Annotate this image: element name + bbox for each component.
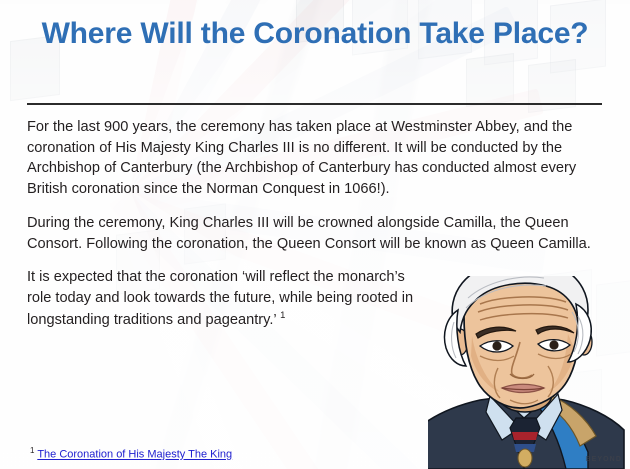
paragraph-3-text: It is expected that the coronation ‘will… bbox=[27, 269, 413, 327]
footnote: 1 The Coronation of His Majesty The King bbox=[30, 446, 232, 461]
paragraph-2: During the ceremony, King Charles III wi… bbox=[27, 213, 597, 254]
footnote-marker: 1 bbox=[30, 446, 34, 455]
beyond-logo: BEYOND bbox=[585, 456, 622, 463]
slide-content: Where Will the Coronation Take Place? Fo… bbox=[0, 0, 630, 469]
king-charles-iii-portrait bbox=[428, 276, 628, 469]
slide: Where Will the Coronation Take Place? Fo… bbox=[0, 0, 630, 469]
paragraph-3: It is expected that the coronation ‘will… bbox=[27, 267, 417, 330]
title-divider bbox=[27, 103, 602, 105]
paragraph-3-footnote-marker: 1 bbox=[280, 310, 285, 321]
paragraph-1: For the last 900 years, the ceremony has… bbox=[27, 117, 597, 200]
footnote-link[interactable]: The Coronation of His Majesty The King bbox=[37, 449, 232, 461]
page-title: Where Will the Coronation Take Place? bbox=[28, 16, 602, 53]
